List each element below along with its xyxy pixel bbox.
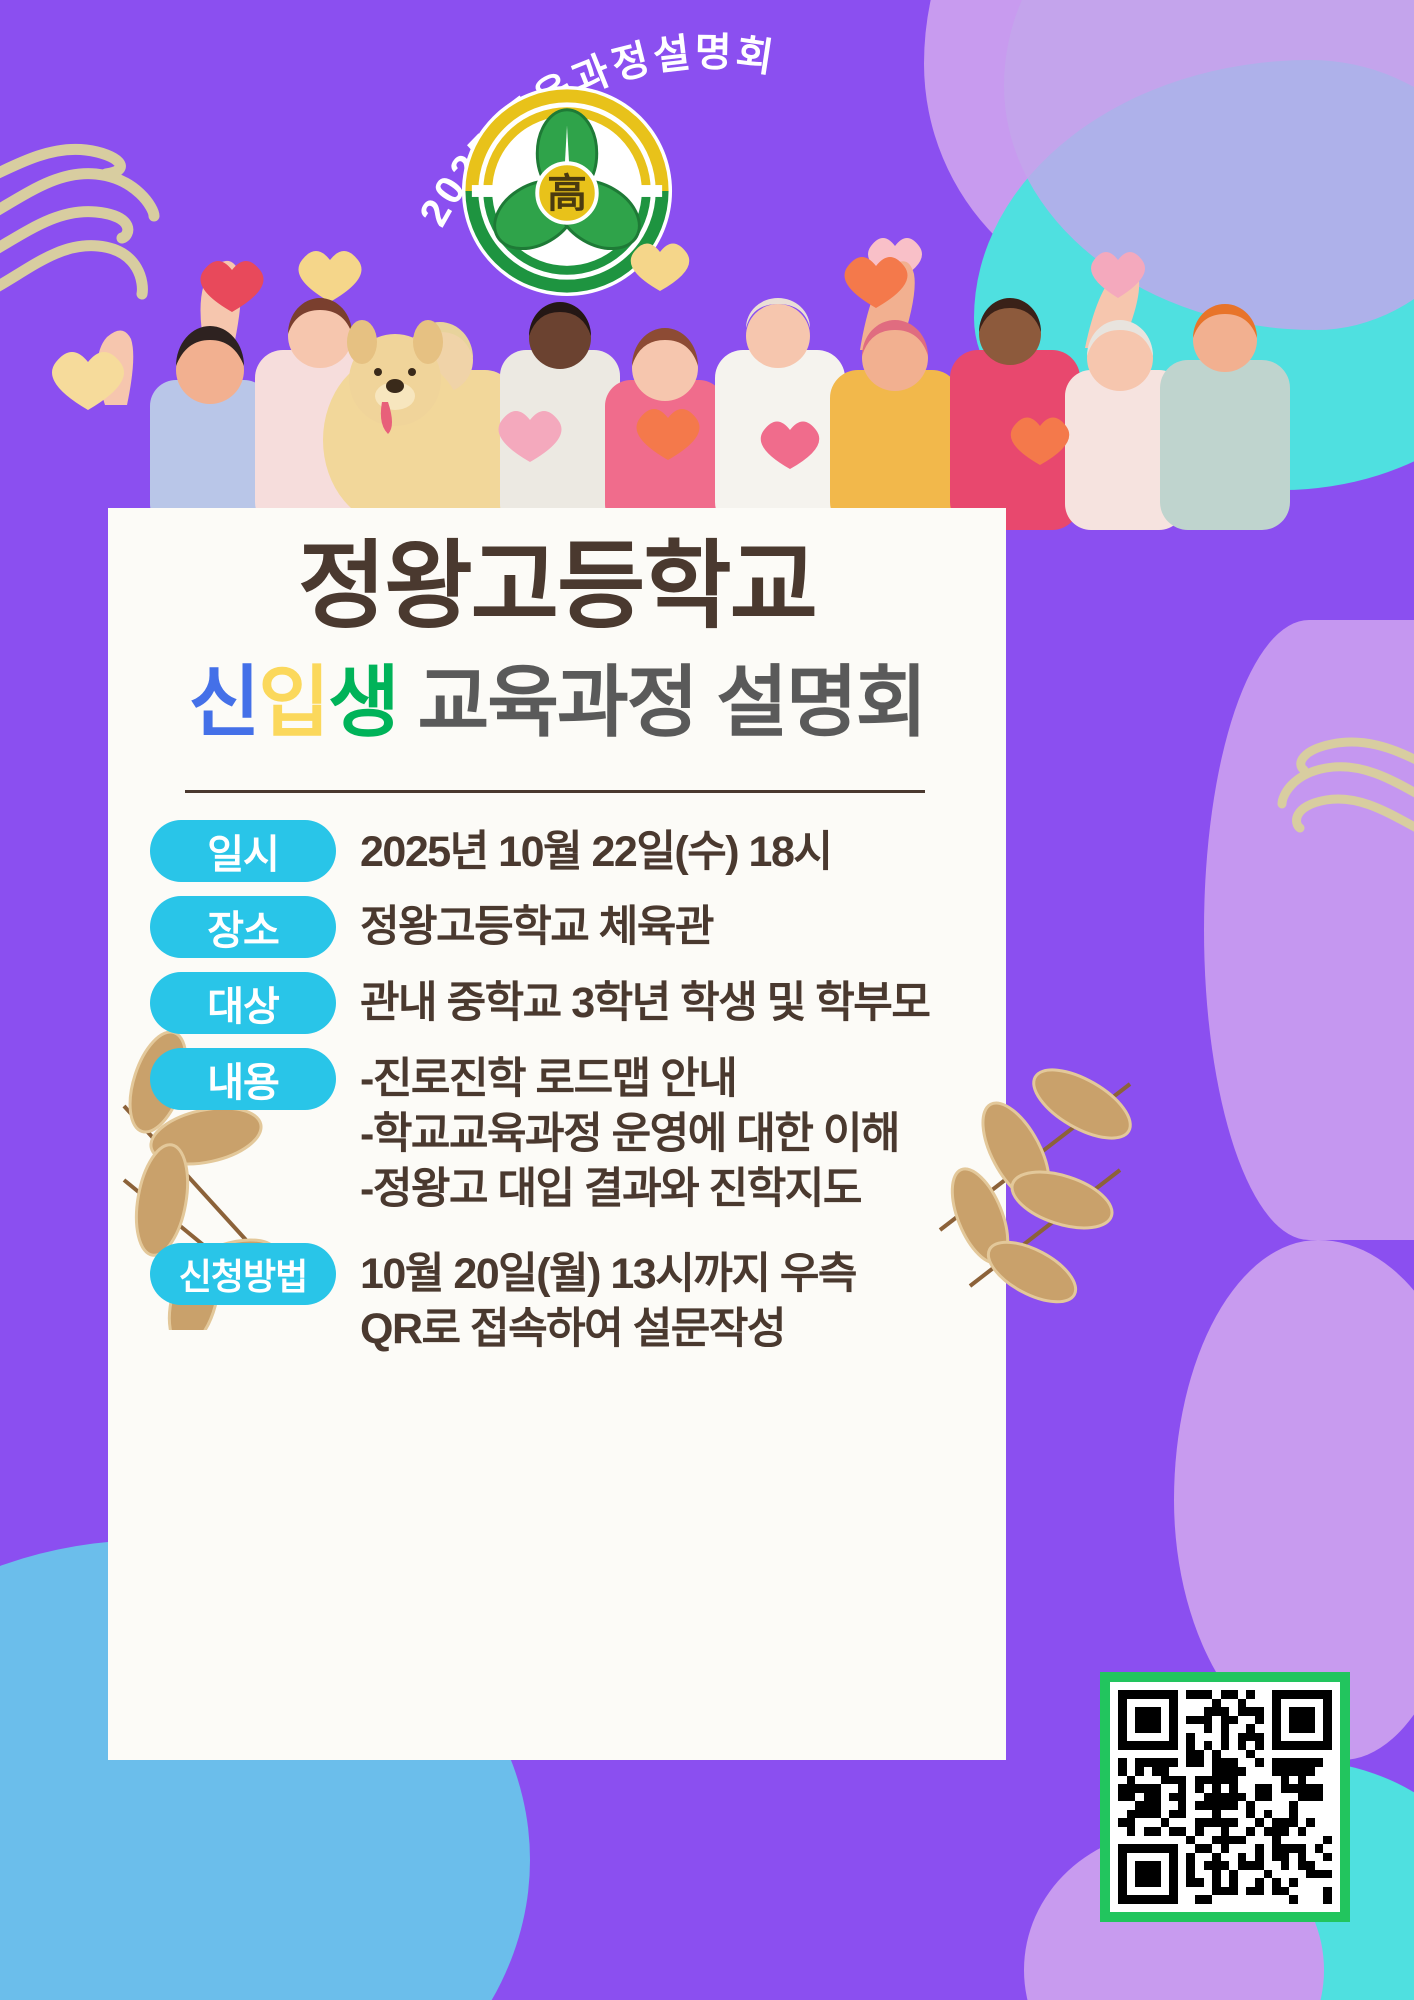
subtitle-part-4: 교육과정 설명회 (398, 658, 926, 746)
apply-line-1: 10월 20일(월) 13시까지 우측 (360, 1247, 856, 1302)
info-row-apply: 신청방법 10월 20일(월) 13시까지 우측 QR로 접속하여 설문작성 (150, 1243, 1030, 1357)
info-row-place: 장소 정왕고등학교 체육관 (150, 896, 1030, 958)
content-card-bottom (108, 1560, 1006, 1760)
value-date: 2025년 10월 22일(수) 18시 (360, 820, 831, 880)
value-target: 관내 중학교 3학년 학생 및 학부모 (360, 972, 929, 1031)
label-pill-date: 일시 (150, 820, 336, 882)
emblem-character: 高 (547, 172, 587, 216)
subtitle-part-2: 입 (258, 658, 328, 746)
info-row-date: 일시 2025년 10월 22일(수) 18시 (150, 820, 1030, 882)
background-blob-lilac-middle-right (1204, 620, 1414, 1240)
people-illustration (0, 230, 1414, 530)
wave-lines-right-icon (1224, 720, 1414, 860)
label-pill-content: 내용 (150, 1048, 336, 1110)
value-apply: 10월 20일(월) 13시까지 우측 QR로 접속하여 설문작성 (360, 1243, 856, 1357)
info-row-target: 대상 관내 중학교 3학년 학생 및 학부모 (150, 972, 1030, 1034)
value-place: 정왕고등학교 체육관 (360, 896, 713, 955)
label-pill-target: 대상 (150, 972, 336, 1034)
value-content: -진로진학 로드맵 안내 -학교교육과정 운영에 대한 이해 -정왕고 대입 결… (360, 1048, 899, 1217)
content-line-3: -정왕고 대입 결과와 진학지도 (360, 1162, 899, 1217)
subtitle-part-3: 생 (328, 658, 398, 746)
content-line-2: -학교교육과정 운영에 대한 이해 (360, 1107, 899, 1162)
content-line-1: -진로진학 로드맵 안내 (360, 1052, 899, 1107)
arc-header-text: 2025 교육과정설명회 (0, 6, 1414, 246)
info-row-list: 일시 2025년 10월 22일(수) 18시 장소 정왕고등학교 체육관 대상… (150, 820, 1030, 1371)
label-pill-apply: 신청방법 (150, 1243, 336, 1305)
title-divider (185, 790, 925, 793)
registration-qr-code[interactable] (1100, 1672, 1350, 1922)
poster-root: 2025 교육과정설명회 高 (0, 0, 1414, 2000)
page-title: 정왕고등학교 (108, 536, 1006, 638)
page-subtitle: 신입생 교육과정 설명회 (108, 660, 1006, 746)
apply-line-2: QR로 접속하여 설문작성 (360, 1302, 856, 1357)
qr-module-grid (1118, 1690, 1332, 1904)
info-row-content: 내용 -진로진학 로드맵 안내 -학교교육과정 운영에 대한 이해 -정왕고 대… (150, 1048, 1030, 1217)
heart-decorations (299, 238, 923, 302)
label-pill-place: 장소 (150, 896, 336, 958)
subtitle-part-1: 신 (189, 658, 259, 746)
qr-inner (1110, 1682, 1340, 1912)
